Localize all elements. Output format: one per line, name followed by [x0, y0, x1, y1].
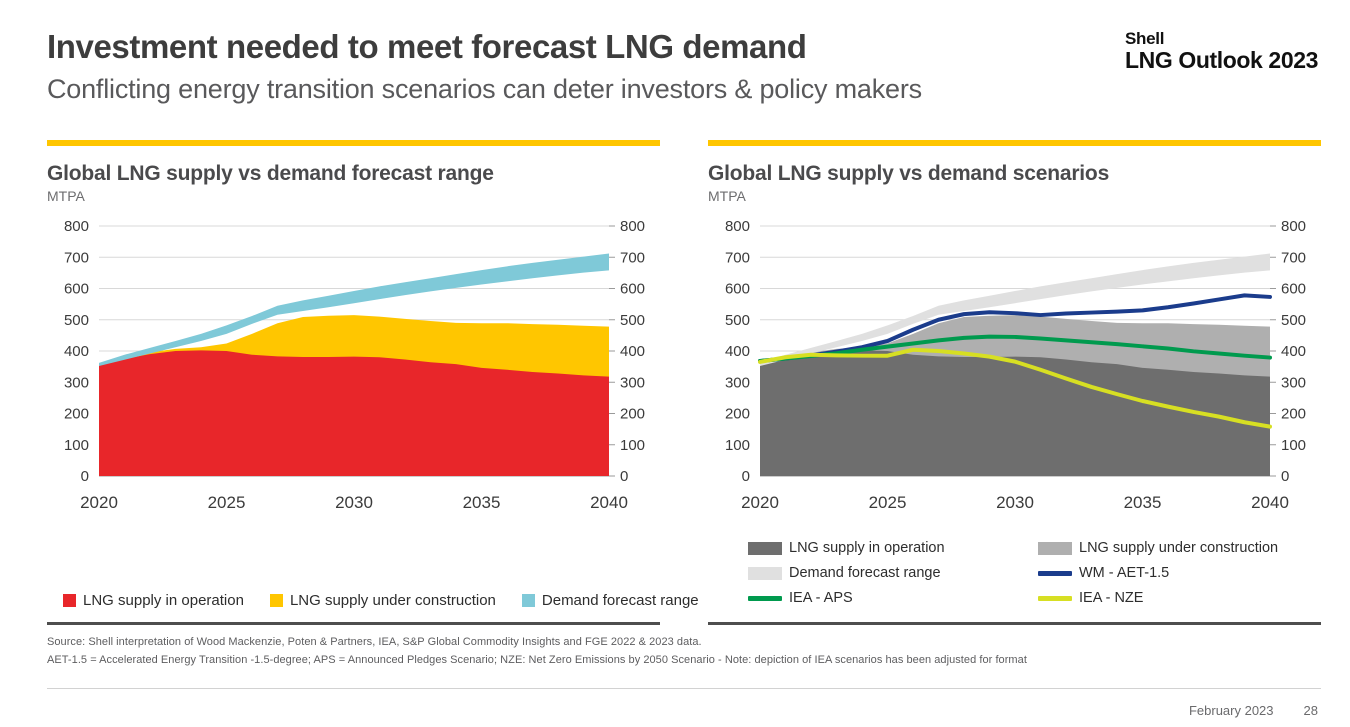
svg-text:200: 200 — [1281, 406, 1306, 423]
left-chart-panel: Global LNG supply vs demand forecast ran… — [47, 140, 660, 518]
svg-text:100: 100 — [1281, 437, 1306, 454]
svg-text:0: 0 — [620, 468, 628, 485]
svg-text:600: 600 — [1281, 281, 1306, 298]
svg-text:500: 500 — [1281, 312, 1306, 329]
svg-text:400: 400 — [64, 343, 89, 360]
svg-text:700: 700 — [1281, 249, 1306, 266]
legend-item-iea-aps[interactable]: IEA - APS — [748, 590, 1038, 606]
right-chart-unit-label: MTPA — [708, 188, 1321, 204]
legend-label: WM - AET-1.5 — [1079, 565, 1169, 581]
svg-text:2020: 2020 — [741, 493, 779, 512]
svg-text:2030: 2030 — [335, 493, 373, 512]
left-chart-unit-label: MTPA — [47, 188, 660, 204]
left-chart: 0010010020020030030040040050050060060070… — [47, 218, 660, 518]
svg-text:600: 600 — [620, 281, 645, 298]
footer: February 2023 28 — [1189, 703, 1318, 718]
right-chart: 0010010020020030030040040050050060060070… — [708, 218, 1321, 518]
svg-text:100: 100 — [620, 437, 645, 454]
svg-text:2035: 2035 — [1124, 493, 1162, 512]
left-panel-bottom-rule — [47, 622, 660, 625]
legend-line-icon — [1038, 596, 1072, 601]
svg-text:2025: 2025 — [869, 493, 907, 512]
legend-label: IEA - APS — [789, 590, 853, 606]
svg-text:2040: 2040 — [590, 493, 628, 512]
page-subtitle: Conflicting energy transition scenarios … — [47, 74, 922, 105]
legend-swatch-icon — [270, 594, 283, 607]
legend-item-demand-forecast-range[interactable]: Demand forecast range — [748, 565, 1038, 581]
svg-text:600: 600 — [64, 281, 89, 298]
svg-text:700: 700 — [64, 249, 89, 266]
legend-swatch-icon — [748, 567, 782, 580]
right-chart-title: Global LNG supply vs demand scenarios — [708, 162, 1321, 186]
legend-item-iea-nze[interactable]: IEA - NZE — [1038, 590, 1328, 606]
legend-label: IEA - NZE — [1079, 590, 1143, 606]
legend-swatch-icon — [748, 542, 782, 555]
svg-text:400: 400 — [620, 343, 645, 360]
footer-divider — [47, 688, 1321, 689]
legend-line-icon — [748, 596, 782, 601]
svg-text:0: 0 — [1281, 468, 1289, 485]
legend-item-demand-forecast-range[interactable]: Demand forecast range — [522, 592, 699, 609]
page-title: Investment needed to meet forecast LNG d… — [47, 28, 807, 66]
legend-label: Demand forecast range — [789, 565, 941, 581]
yellow-accent-rule-left — [47, 140, 660, 146]
svg-text:800: 800 — [64, 218, 89, 235]
slide: Investment needed to meet forecast LNG d… — [0, 0, 1350, 727]
legend-label: LNG supply under construction — [290, 592, 496, 609]
legend-line-icon — [1038, 571, 1072, 576]
svg-text:100: 100 — [725, 437, 750, 454]
brand-outlook-label: LNG Outlook 2023 — [1125, 49, 1318, 72]
shell-lng-outlook-logo: Shell LNG Outlook 2023 — [1125, 30, 1318, 72]
legend-swatch-icon — [1038, 542, 1072, 555]
svg-text:800: 800 — [1281, 218, 1306, 235]
legend-label: Demand forecast range — [542, 592, 699, 609]
svg-text:500: 500 — [620, 312, 645, 329]
svg-text:700: 700 — [620, 249, 645, 266]
right-chart-panel: Global LNG supply vs demand scenarios MT… — [708, 140, 1321, 518]
svg-text:2040: 2040 — [1251, 493, 1289, 512]
svg-text:2025: 2025 — [208, 493, 246, 512]
legend-item-lng-supply-under-construction[interactable]: LNG supply under construction — [270, 592, 496, 609]
yellow-accent-rule-right — [708, 140, 1321, 146]
source-footnote-line-2: AET-1.5 = Accelerated Energy Transition … — [47, 652, 1027, 670]
source-footnote-line-1: Source: Shell interpretation of Wood Mac… — [47, 634, 702, 652]
svg-text:0: 0 — [81, 468, 89, 485]
legend-swatch-icon — [522, 594, 535, 607]
svg-text:400: 400 — [1281, 343, 1306, 360]
svg-text:2035: 2035 — [463, 493, 501, 512]
svg-text:400: 400 — [725, 343, 750, 360]
svg-text:200: 200 — [725, 406, 750, 423]
right-panel-bottom-rule — [708, 622, 1321, 625]
svg-text:800: 800 — [620, 218, 645, 235]
right-chart-svg: 0010010020020030030040040050050060060070… — [708, 218, 1321, 518]
svg-text:300: 300 — [1281, 374, 1306, 391]
svg-text:300: 300 — [725, 374, 750, 391]
svg-text:200: 200 — [620, 406, 645, 423]
svg-text:2020: 2020 — [80, 493, 118, 512]
svg-text:200: 200 — [64, 406, 89, 423]
legend-item-lng-supply-in-operation[interactable]: LNG supply in operation — [748, 540, 1038, 556]
svg-text:2030: 2030 — [996, 493, 1034, 512]
svg-text:600: 600 — [725, 281, 750, 298]
legend-item-lng-supply-in-operation[interactable]: LNG supply in operation — [63, 592, 244, 609]
svg-text:300: 300 — [620, 374, 645, 391]
svg-text:800: 800 — [725, 218, 750, 235]
right-chart-legend: LNG supply in operation LNG supply under… — [748, 540, 1328, 606]
left-chart-title: Global LNG supply vs demand forecast ran… — [47, 162, 660, 186]
brand-shell-label: Shell — [1125, 30, 1318, 47]
footer-page-number: 28 — [1304, 703, 1318, 718]
svg-text:300: 300 — [64, 374, 89, 391]
legend-label: LNG supply in operation — [789, 540, 945, 556]
svg-text:500: 500 — [725, 312, 750, 329]
svg-text:0: 0 — [742, 468, 750, 485]
footer-date: February 2023 — [1189, 703, 1274, 718]
legend-item-lng-supply-under-construction[interactable]: LNG supply under construction — [1038, 540, 1328, 556]
legend-label: LNG supply under construction — [1079, 540, 1278, 556]
legend-swatch-icon — [63, 594, 76, 607]
svg-text:500: 500 — [64, 312, 89, 329]
legend-item-wm-aet-15[interactable]: WM - AET-1.5 — [1038, 565, 1328, 581]
left-chart-svg: 0010010020020030030040040050050060060070… — [47, 218, 660, 518]
svg-text:700: 700 — [725, 249, 750, 266]
left-chart-legend: LNG supply in operation LNG supply under… — [63, 592, 699, 609]
svg-text:100: 100 — [64, 437, 89, 454]
legend-label: LNG supply in operation — [83, 592, 244, 609]
